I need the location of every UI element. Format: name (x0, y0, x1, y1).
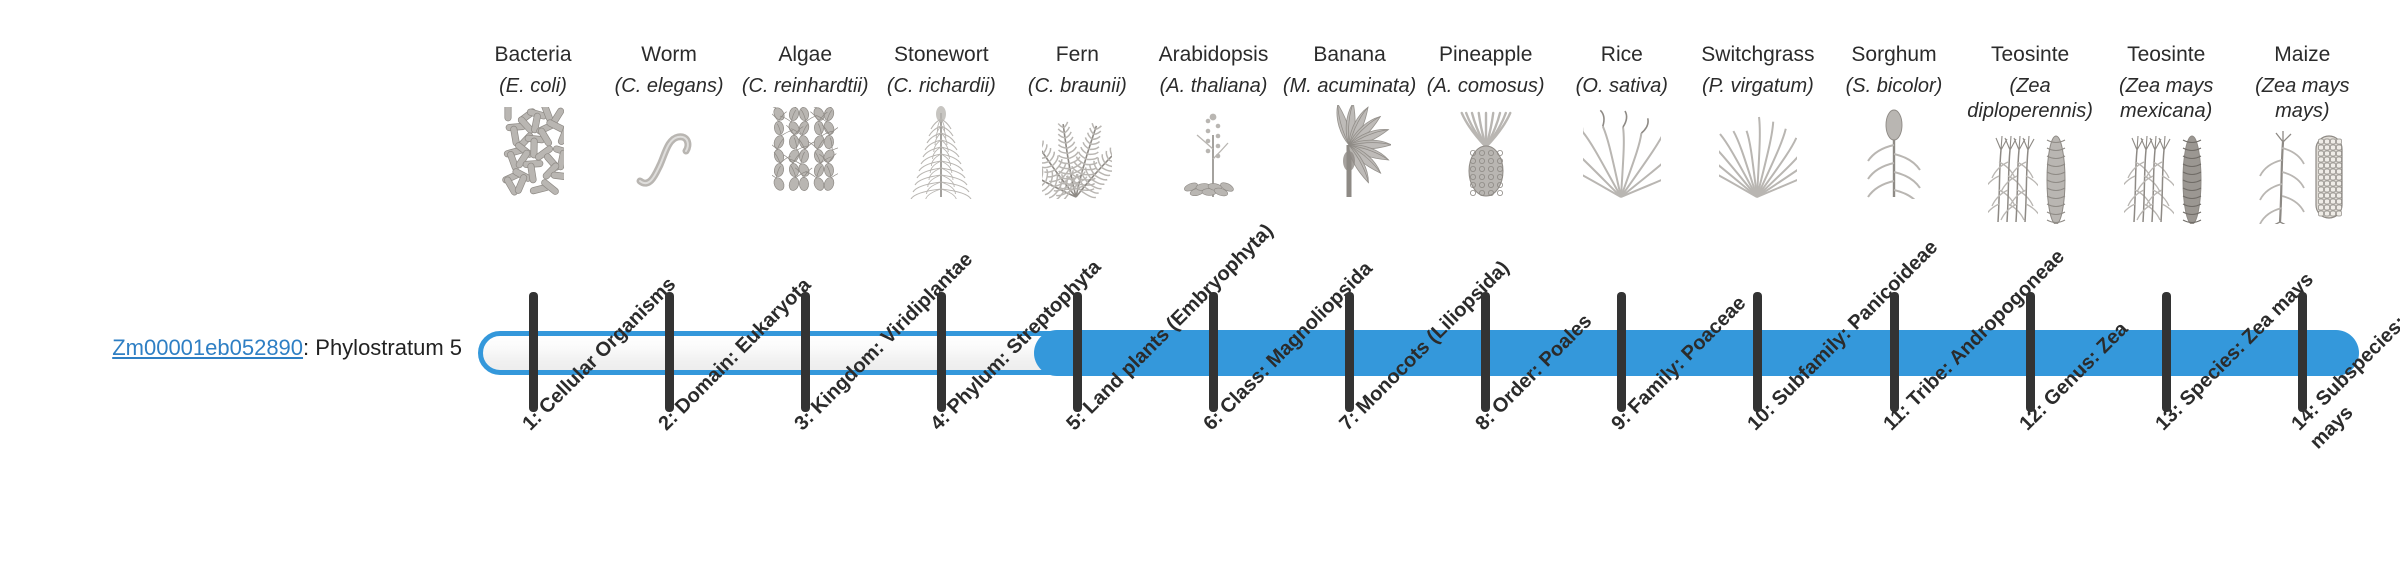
phylostratum-tick-9 (1617, 292, 1626, 412)
species-column-bacteria-1: Bacteria(E. coli) (458, 42, 608, 199)
species-latin-name: (C. reinhardtii) (730, 74, 880, 99)
species-column-sorghum-11: Sorghum(S. bicolor) (1819, 42, 1969, 199)
phylostratum-tick-1 (529, 292, 538, 412)
phylostratum-tick-7 (1345, 292, 1354, 412)
species-common-name: Switchgrass (1683, 42, 1833, 68)
fern-illustration (1002, 103, 1152, 199)
teosinte-mexicana-illustration (2091, 128, 2241, 224)
algae-illustration (730, 103, 880, 199)
banana-illustration (1275, 103, 1425, 199)
gene-row-label: Zm00001eb052890: Phylostratum 5 (0, 334, 462, 362)
species-latin-name: (A. comosus) (1411, 74, 1561, 99)
phylostratum-tick-13 (2162, 292, 2171, 412)
species-latin-name: (Zea mays mexicana) (2091, 74, 2241, 124)
species-column-rice-9: Rice(O. sativa) (1547, 42, 1697, 199)
species-column-switchgrass-10: Switchgrass(P. virgatum) (1683, 42, 1833, 199)
species-common-name: Pineapple (1411, 42, 1561, 68)
bacteria-illustration (458, 103, 608, 199)
species-column-teosinte-12: Teosinte(Zea diploperennis) (1955, 42, 2105, 224)
species-column-maize-14: Maize(Zea mays mays) (2227, 42, 2377, 224)
species-common-name: Fern (1002, 42, 1152, 68)
species-column-fern-5: Fern(C. braunii) (1002, 42, 1152, 199)
pineapple-illustration (1411, 103, 1561, 199)
species-column-stonewort-4: Stonewort(C. richardii) (866, 42, 1016, 199)
species-common-name: Arabidopsis (1139, 42, 1289, 68)
phylostratum-tick-12 (2026, 292, 2035, 412)
species-latin-name: (S. bicolor) (1819, 74, 1969, 99)
species-column-arabidopsis-6: Arabidopsis(A. thaliana) (1139, 42, 1289, 199)
phylostratum-tick-10 (1753, 292, 1762, 412)
teosinte-diploperennis-illustration (1955, 128, 2105, 224)
switchgrass-illustration (1683, 103, 1833, 199)
species-column-worm-2: Worm(C. elegans) (594, 42, 744, 199)
gene-label-separator: : (303, 335, 315, 360)
nematode-illustration (594, 103, 744, 199)
species-latin-name: (O. sativa) (1547, 74, 1697, 99)
maize-illustration (2227, 128, 2377, 224)
stonewort-illustration (866, 103, 1016, 199)
species-latin-name: (E. coli) (458, 74, 608, 99)
species-column-pineapple-8: Pineapple(A. comosus) (1411, 42, 1561, 199)
species-latin-name: (C. braunii) (1002, 74, 1152, 99)
phylostratum-tick-8 (1481, 292, 1490, 412)
species-latin-name: (Zea diploperennis) (1955, 74, 2105, 124)
phylostratum-tick-2 (665, 292, 674, 412)
species-common-name: Sorghum (1819, 42, 1969, 68)
phylostratigraphy-chart: Bacteria(E. coli) (0, 0, 2400, 580)
species-latin-name: (A. thaliana) (1139, 74, 1289, 99)
phylostratum-tick-4 (937, 292, 946, 412)
phylostratum-value-label: Phylostratum 5 (315, 335, 462, 360)
species-column-teosinte-13: Teosinte(Zea mays mexicana) (2091, 42, 2241, 224)
species-common-name: Stonewort (866, 42, 1016, 68)
species-common-name: Teosinte (2091, 42, 2241, 68)
phylostratum-tick-3 (801, 292, 810, 412)
species-common-name: Banana (1275, 42, 1425, 68)
species-latin-name: (P. virgatum) (1683, 74, 1833, 99)
species-common-name: Rice (1547, 42, 1697, 68)
species-latin-name: (C. richardii) (866, 74, 1016, 99)
arabidopsis-illustration (1139, 103, 1289, 199)
phylostratum-tick-11 (1890, 292, 1899, 412)
phylostratum-tick-14 (2298, 292, 2307, 412)
rice-illustration (1547, 103, 1697, 199)
species-column-banana-7: Banana(M. acuminata) (1275, 42, 1425, 199)
gene-id-link[interactable]: Zm00001eb052890 (112, 335, 303, 360)
species-common-name: Teosinte (1955, 42, 2105, 68)
species-latin-name: (C. elegans) (594, 74, 744, 99)
species-column-algae-3: Algae(C. reinhardtii) (730, 42, 880, 199)
species-common-name: Worm (594, 42, 744, 68)
species-common-name: Bacteria (458, 42, 608, 68)
sorghum-illustration (1819, 103, 1969, 199)
phylostratum-tick-5 (1073, 292, 1082, 412)
species-latin-name: (Zea mays mays) (2227, 74, 2377, 124)
species-common-name: Maize (2227, 42, 2377, 68)
phylostratum-tick-6 (1209, 292, 1218, 412)
species-common-name: Algae (730, 42, 880, 68)
species-latin-name: (M. acuminata) (1275, 74, 1425, 99)
